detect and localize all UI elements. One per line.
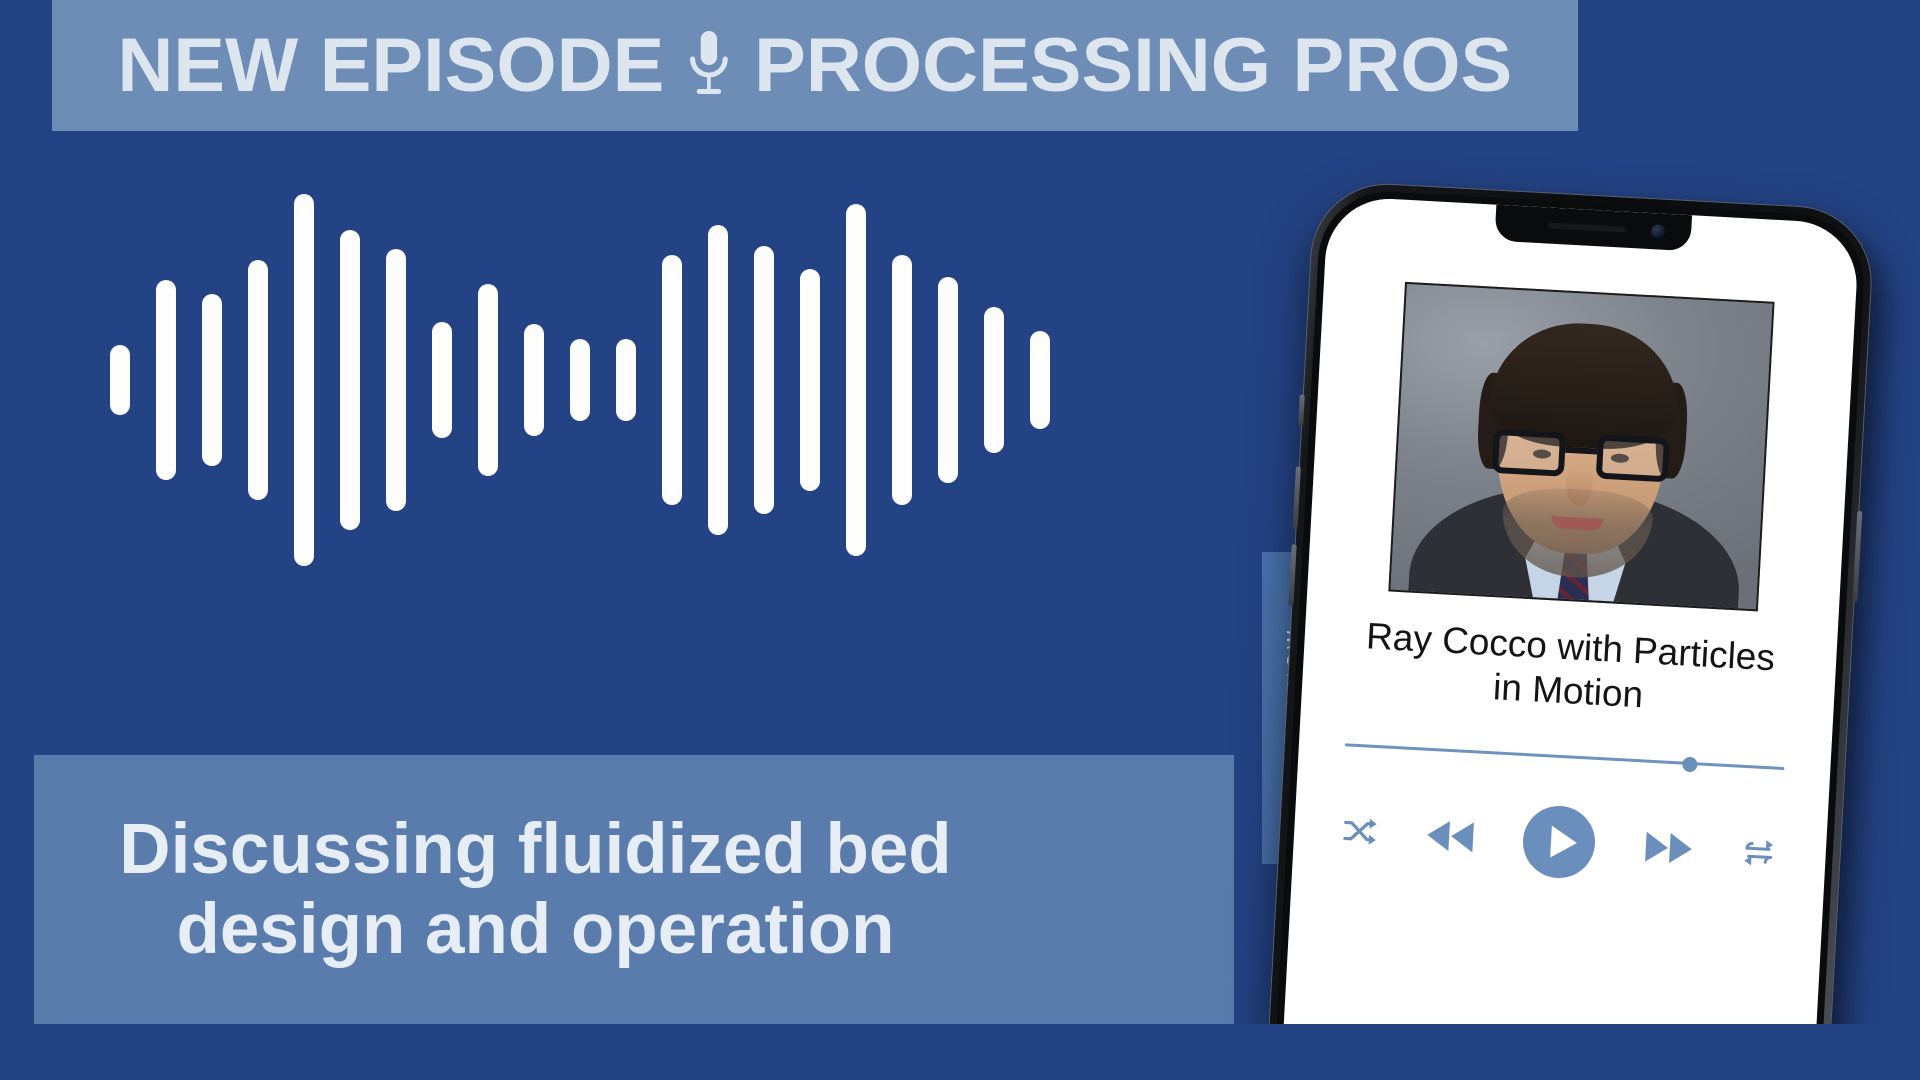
waveform-bar <box>432 322 452 438</box>
new-episode-banner-text: NEW EPISODE PROCESSING PROS <box>118 28 1513 104</box>
glasses-bridge <box>1565 447 1597 455</box>
guest-portrait-frame <box>1388 282 1774 612</box>
waveform-bar <box>984 307 1004 453</box>
repeat-icon[interactable] <box>1739 837 1779 869</box>
episode-title-banner: Discussing fluidized bed design and oper… <box>34 755 1234 1025</box>
waveform-bar <box>800 269 820 491</box>
new-episode-banner: NEW EPISODE PROCESSING PROS <box>52 0 1578 131</box>
waveform-bar <box>110 345 130 415</box>
banner-right-text: PROCESSING PROS <box>754 28 1512 104</box>
waveform-bar <box>294 194 314 566</box>
waveform-bar <box>156 280 176 480</box>
podcast-player-screen: Ray Cocco with Particles in Motion <box>1279 196 1860 1080</box>
episode-title-heading: Discussing fluidized bed design and oper… <box>34 755 1037 1025</box>
waveform-bar <box>1030 331 1050 429</box>
play-icon[interactable] <box>1519 802 1599 882</box>
player-episode-title: Ray Cocco with Particles in Motion <box>1343 613 1795 726</box>
waveform-bar <box>202 294 222 466</box>
waveform-bar <box>754 246 774 514</box>
shuffle-icon[interactable] <box>1342 815 1380 847</box>
waveform-bar <box>938 277 958 483</box>
playback-progress-bar[interactable] <box>1341 738 1789 776</box>
waveform-bar <box>524 324 544 436</box>
phone-volume-up-button[interactable] <box>1293 466 1301 528</box>
glasses-lens-left <box>1492 429 1566 477</box>
microphone-icon <box>687 29 732 103</box>
waveform-bar <box>248 260 268 500</box>
phone-screen: Ray Cocco with Particles in Motion <box>1279 196 1860 1080</box>
waveform-bar <box>570 339 590 421</box>
progress-track <box>1345 743 1785 770</box>
waveform-bar <box>708 225 728 535</box>
rewind-icon[interactable] <box>1423 815 1477 856</box>
portrait-glasses <box>1492 429 1670 484</box>
glasses-lens-right <box>1596 435 1670 483</box>
player-controls <box>1334 792 1785 892</box>
fast-forward-icon[interactable] <box>1641 827 1695 868</box>
phone-mockup: Ray Cocco with Particles in Motion <box>1265 181 1875 1080</box>
phone-frame: Ray Cocco with Particles in Motion <box>1265 181 1875 1080</box>
audio-waveform <box>0 120 1040 640</box>
guest-portrait-image <box>1390 284 1772 609</box>
progress-knob[interactable] <box>1682 756 1698 772</box>
bottom-strip <box>0 1024 1920 1080</box>
waveform-bar <box>340 230 360 530</box>
waveform-bar <box>478 284 498 476</box>
waveform-bar <box>386 249 406 511</box>
phone-mute-button[interactable] <box>1298 394 1305 426</box>
phone-bezel: Ray Cocco with Particles in Motion <box>1272 188 1867 1080</box>
waveform-bar <box>616 339 636 421</box>
waveform-bar <box>846 204 866 556</box>
banner-left-text: NEW EPISODE <box>118 28 665 104</box>
waveform-bar <box>892 255 912 505</box>
waveform-bar <box>662 255 682 505</box>
